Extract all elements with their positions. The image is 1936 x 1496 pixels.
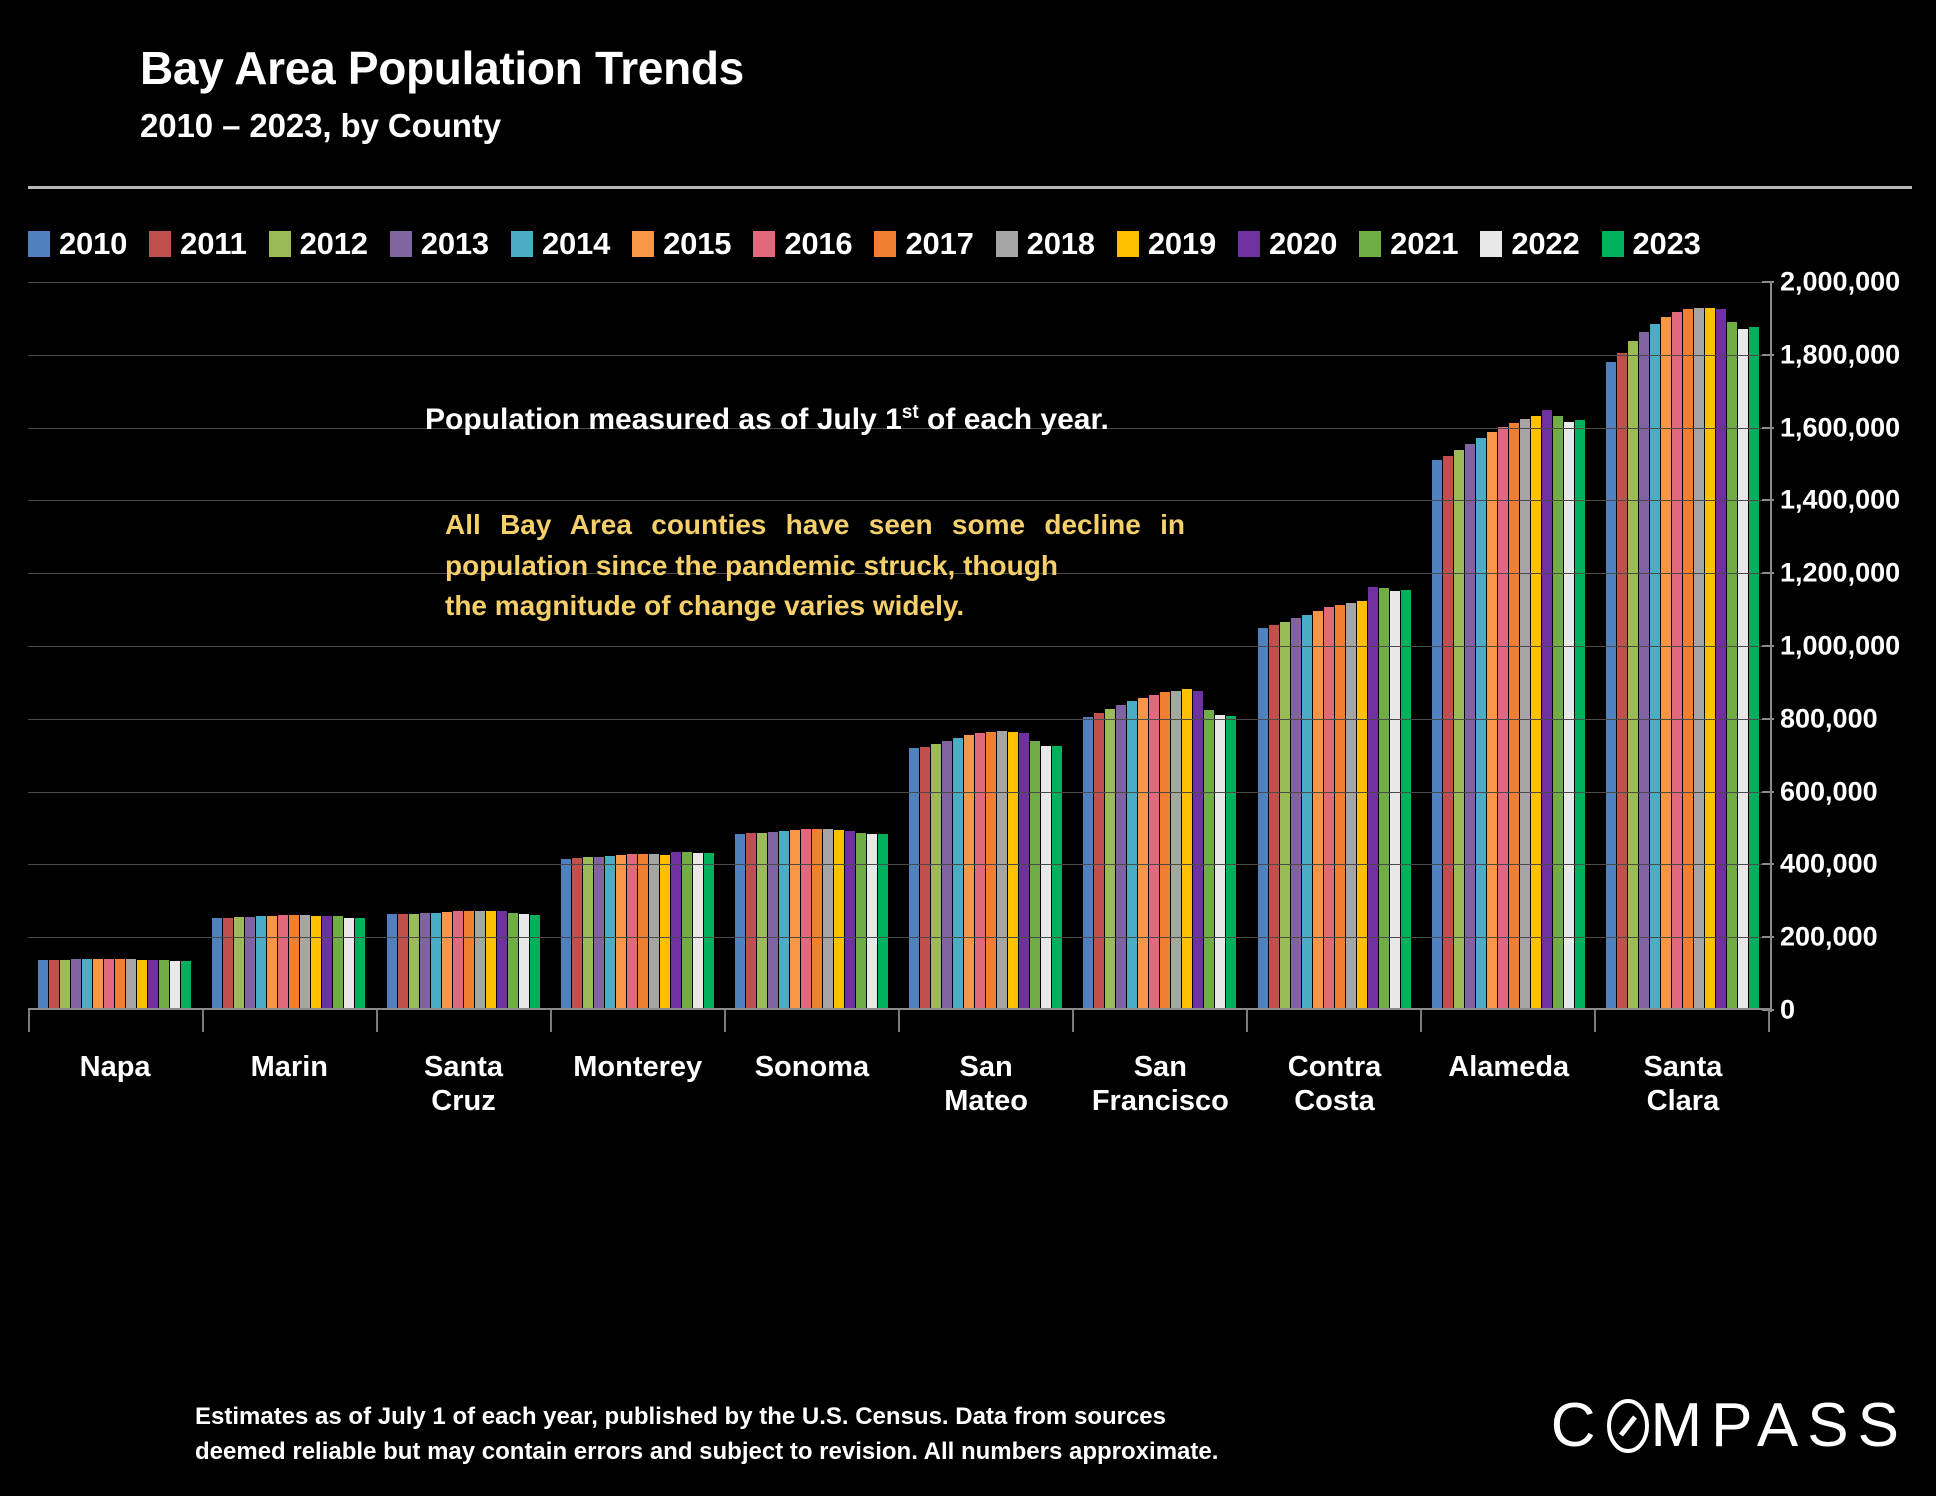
x-axis-label-monterey: Monterey [551, 1022, 725, 1132]
legend-swatch-2017 [874, 231, 896, 257]
x-axis-label-line: Monterey [551, 1050, 725, 1084]
bar-alameda-2015[interactable] [1487, 432, 1497, 1010]
title-block: Bay Area Population Trends 2010 – 2023, … [140, 42, 744, 145]
legend-item-2017[interactable]: 2017 [874, 226, 973, 262]
bar-sonoma-2010[interactable] [735, 834, 745, 1010]
bar-napa-2017[interactable] [115, 959, 125, 1010]
bar-marin-2021[interactable] [333, 916, 343, 1010]
gridline [28, 355, 1770, 356]
bar-marin-2011[interactable] [223, 918, 233, 1010]
x-axis-label-line: Cruz [376, 1084, 550, 1118]
bar-alameda-2013[interactable] [1465, 444, 1475, 1010]
bar-san-mateo-2018[interactable] [997, 731, 1007, 1010]
bar-monterey-2022[interactable] [693, 853, 703, 1010]
bar-contra-costa-2011[interactable] [1269, 625, 1279, 1010]
legend-swatch-2011 [149, 231, 171, 257]
legend-swatch-2019 [1117, 231, 1139, 257]
bar-marin-2017[interactable] [289, 915, 299, 1010]
bar-contra-costa-2023[interactable] [1401, 590, 1411, 1010]
bar-marin-2020[interactable] [322, 916, 332, 1010]
legend-label-2019: 2019 [1148, 226, 1216, 262]
legend-label-2011: 2011 [180, 226, 246, 262]
legend-label-2016: 2016 [784, 226, 852, 262]
bar-alameda-2014[interactable] [1476, 438, 1486, 1010]
bar-san-francisco-2021[interactable] [1204, 710, 1214, 1010]
bar-monterey-2016[interactable] [627, 854, 637, 1010]
x-axis-labels: NapaMarinSantaCruzMontereySonomaSanMateo… [28, 1022, 1770, 1132]
bar-sonoma-2019[interactable] [834, 830, 844, 1010]
bar-marin-2022[interactable] [344, 918, 354, 1010]
gridline [28, 500, 1770, 501]
y-tick-mark [1762, 427, 1774, 429]
x-axis-label-contra-costa: ContraCosta [1247, 1022, 1421, 1132]
bar-napa-2011[interactable] [49, 960, 59, 1010]
bar-monterey-2019[interactable] [660, 855, 670, 1010]
bar-santa-cruz-2023[interactable] [530, 915, 540, 1010]
bar-alameda-2011[interactable] [1443, 456, 1453, 1010]
bar-santa-clara-2011[interactable] [1617, 353, 1627, 1010]
bar-san-mateo-2020[interactable] [1019, 733, 1029, 1010]
header-divider [28, 186, 1912, 189]
bar-san-francisco-2023[interactable] [1226, 716, 1236, 1010]
legend-swatch-2016 [753, 231, 775, 257]
x-axis-label-line: Mateo [899, 1084, 1073, 1118]
bar-sonoma-2015[interactable] [790, 830, 800, 1010]
x-axis-label-napa: Napa [28, 1022, 202, 1132]
bar-sonoma-2021[interactable] [856, 833, 866, 1010]
y-tick-label: 1,000,000 [1780, 631, 1900, 662]
bar-san-mateo-2015[interactable] [964, 735, 974, 1010]
x-axis-label-line: Alameda [1422, 1050, 1596, 1084]
y-axis-line [1770, 282, 1772, 1012]
bar-santa-cruz-2011[interactable] [398, 914, 408, 1010]
legend-swatch-2018 [996, 231, 1018, 257]
bar-napa-2016[interactable] [104, 959, 114, 1010]
legend-item-2016[interactable]: 2016 [753, 226, 852, 262]
x-axis-label-line: Marin [202, 1050, 376, 1084]
footer-disclaimer: Estimates as of July 1 of each year, pub… [195, 1400, 1365, 1470]
bar-sonoma-2013[interactable] [768, 832, 778, 1010]
bar-san-francisco-2016[interactable] [1149, 695, 1159, 1010]
bar-sonoma-2016[interactable] [801, 829, 811, 1010]
bar-contra-costa-2010[interactable] [1258, 628, 1268, 1010]
bar-san-mateo-2023[interactable] [1052, 746, 1062, 1010]
bar-napa-2019[interactable] [137, 960, 147, 1010]
bar-santa-cruz-2021[interactable] [508, 913, 518, 1010]
bar-contra-costa-2016[interactable] [1324, 607, 1334, 1010]
legend-item-2013[interactable]: 2013 [390, 226, 489, 262]
bar-marin-2016[interactable] [278, 915, 288, 1010]
legend-item-2020[interactable]: 2020 [1238, 226, 1337, 262]
compass-logo-text: C MPASS [1551, 1390, 1908, 1461]
y-tick-mark [1762, 572, 1774, 574]
legend-label-2020: 2020 [1269, 226, 1337, 262]
bar-marin-2015[interactable] [267, 916, 277, 1010]
annotation-highlight: All Bay Area counties have seen some dec… [445, 505, 1185, 627]
bar-sonoma-2018[interactable] [823, 829, 833, 1010]
bar-napa-2014[interactable] [82, 959, 92, 1010]
bar-napa-2013[interactable] [71, 959, 81, 1010]
bar-san-mateo-2016[interactable] [975, 733, 985, 1010]
bar-santa-clara-2023[interactable] [1749, 327, 1759, 1010]
page-title: Bay Area Population Trends [140, 42, 744, 95]
bar-san-mateo-2021[interactable] [1030, 741, 1040, 1010]
bar-contra-costa-2017[interactable] [1335, 605, 1345, 1010]
gridline [28, 792, 1770, 793]
bar-san-mateo-2017[interactable] [986, 732, 996, 1010]
bar-monterey-2013[interactable] [594, 857, 604, 1010]
bar-napa-2020[interactable] [148, 960, 158, 1010]
legend-swatch-2015 [632, 231, 654, 257]
bar-san-mateo-2019[interactable] [1008, 732, 1018, 1010]
bar-monterey-2023[interactable] [704, 853, 714, 1011]
legend-item-2019[interactable]: 2019 [1117, 226, 1216, 262]
bar-alameda-2017[interactable] [1509, 423, 1519, 1010]
y-tick-label: 2,000,000 [1780, 267, 1900, 298]
gridline [28, 282, 1770, 283]
legend-label-2014: 2014 [542, 226, 610, 262]
y-tick-mark [1762, 936, 1774, 938]
bar-napa-2022[interactable] [170, 961, 180, 1010]
bar-contra-costa-2019[interactable] [1357, 601, 1367, 1010]
bar-napa-2018[interactable] [126, 959, 136, 1010]
y-tick-label: 800,000 [1780, 703, 1878, 734]
bar-napa-2012[interactable] [60, 960, 70, 1010]
bar-monterey-2012[interactable] [583, 857, 593, 1010]
y-tick-mark [1762, 863, 1774, 865]
legend-item-2011[interactable]: 2011 [149, 226, 246, 262]
annotation-highlight-last: the magnitude of change varies widely. [445, 586, 1185, 627]
gridline [28, 864, 1770, 865]
bar-santa-cruz-2018[interactable] [475, 911, 485, 1010]
legend-item-2010[interactable]: 2010 [28, 226, 127, 262]
x-axis-label-line: Contra [1247, 1050, 1421, 1084]
bar-sonoma-2022[interactable] [867, 834, 877, 1010]
bar-sonoma-2017[interactable] [812, 829, 822, 1010]
x-axis-label-line: Napa [28, 1050, 202, 1084]
legend-item-2014[interactable]: 2014 [511, 226, 610, 262]
legend-swatch-2012 [269, 231, 291, 257]
annotation-note-suffix: of each year. [919, 403, 1109, 436]
annotation-note-prefix: Population measured as of July 1 [425, 403, 902, 436]
bar-santa-cruz-2015[interactable] [442, 912, 452, 1010]
legend-label-2021: 2021 [1390, 226, 1458, 262]
x-axis-label-line: Costa [1247, 1084, 1421, 1118]
y-tick-mark [1762, 791, 1774, 793]
bar-alameda-2023[interactable] [1575, 420, 1585, 1010]
legend-swatch-2013 [390, 231, 412, 257]
bar-santa-cruz-2013[interactable] [420, 913, 430, 1010]
bar-san-mateo-2012[interactable] [931, 744, 941, 1010]
bar-contra-costa-2018[interactable] [1346, 603, 1356, 1010]
legend-item-2012[interactable]: 2012 [269, 226, 368, 262]
bar-sonoma-2020[interactable] [845, 831, 855, 1010]
bar-marin-2012[interactable] [234, 917, 244, 1010]
bar-alameda-2012[interactable] [1454, 450, 1464, 1010]
y-tick-label: 1,800,000 [1780, 339, 1900, 370]
x-axis-label-santa-clara: SantaClara [1596, 1022, 1770, 1132]
logo-letter-c: C [1551, 1390, 1605, 1461]
bar-san-mateo-2010[interactable] [909, 748, 919, 1010]
bar-contra-costa-2012[interactable] [1280, 622, 1290, 1010]
bar-napa-2010[interactable] [38, 960, 48, 1010]
y-tick-mark [1762, 718, 1774, 720]
bar-monterey-2014[interactable] [605, 856, 615, 1010]
legend-item-2022[interactable]: 2022 [1480, 226, 1579, 262]
legend-item-2018[interactable]: 2018 [996, 226, 1095, 262]
legend-label-2022: 2022 [1511, 226, 1579, 262]
bar-san-francisco-2017[interactable] [1160, 692, 1170, 1010]
bar-santa-clara-2015[interactable] [1661, 317, 1671, 1010]
legend-label-2010: 2010 [59, 226, 127, 262]
legend-label-2023: 2023 [1633, 226, 1701, 262]
x-axis-label-line: San [899, 1050, 1073, 1084]
legend-swatch-2022 [1480, 231, 1502, 257]
legend-swatch-2021 [1359, 231, 1381, 257]
bar-contra-costa-2021[interactable] [1379, 588, 1389, 1010]
y-tick-label: 200,000 [1780, 922, 1878, 953]
bar-marin-2013[interactable] [245, 917, 255, 1010]
x-axis-label-marin: Marin [202, 1022, 376, 1132]
y-tick-label: 1,600,000 [1780, 412, 1900, 443]
legend-label-2017: 2017 [905, 226, 973, 262]
bar-san-mateo-2011[interactable] [920, 747, 930, 1010]
bar-santa-clara-2012[interactable] [1628, 341, 1638, 1010]
bar-contra-costa-2020[interactable] [1368, 587, 1378, 1010]
y-tick-mark [1762, 499, 1774, 501]
bar-alameda-2019[interactable] [1531, 416, 1541, 1010]
bar-monterey-2010[interactable] [561, 859, 571, 1010]
legend-label-2018: 2018 [1027, 226, 1095, 262]
bar-santa-clara-2010[interactable] [1606, 362, 1616, 1011]
bar-san-mateo-2014[interactable] [953, 738, 963, 1010]
bar-santa-clara-2017[interactable] [1683, 309, 1693, 1010]
legend-label-2015: 2015 [663, 226, 731, 262]
legend-label-2013: 2013 [421, 226, 489, 262]
plot-area [28, 282, 1770, 1010]
legend-item-2023[interactable]: 2023 [1602, 226, 1701, 262]
bar-san-francisco-2011[interactable] [1094, 713, 1104, 1010]
y-tick-label: 400,000 [1780, 849, 1878, 880]
x-axis-label-line: Sonoma [725, 1050, 899, 1084]
bar-monterey-2020[interactable] [671, 852, 681, 1010]
x-axis-label-line: Santa [1596, 1050, 1770, 1084]
x-axis-label-sonoma: Sonoma [725, 1022, 899, 1132]
y-tick-label: 0 [1780, 995, 1795, 1026]
bar-sonoma-2014[interactable] [779, 831, 789, 1010]
bar-san-mateo-2022[interactable] [1041, 746, 1051, 1010]
bar-santa-cruz-2020[interactable] [497, 911, 507, 1010]
x-axis-label-line: Clara [1596, 1084, 1770, 1118]
bar-san-francisco-2015[interactable] [1138, 698, 1148, 1010]
bar-contra-costa-2014[interactable] [1302, 615, 1312, 1010]
gridline [28, 719, 1770, 720]
bar-alameda-2021[interactable] [1553, 416, 1563, 1010]
bar-san-francisco-2014[interactable] [1127, 701, 1137, 1010]
bar-santa-clara-2018[interactable] [1694, 308, 1704, 1010]
bar-santa-cruz-2019[interactable] [486, 911, 496, 1010]
bar-santa-cruz-2012[interactable] [409, 914, 419, 1010]
logo-letters-mpass: MPASS [1651, 1390, 1908, 1461]
bar-alameda-2018[interactable] [1520, 419, 1530, 1010]
annotation-note-sup: st [902, 402, 919, 423]
annotation-highlight-body: All Bay Area counties have seen some dec… [445, 509, 1185, 581]
bar-santa-cruz-2010[interactable] [387, 914, 397, 1010]
bar-santa-clara-2022[interactable] [1738, 329, 1748, 1010]
slide-root: Bay Area Population Trends 2010 – 2023, … [0, 0, 1936, 1496]
bar-monterey-2021[interactable] [682, 852, 692, 1010]
legend-item-2015[interactable]: 2015 [632, 226, 731, 262]
y-tick-mark [1762, 354, 1774, 356]
page-subtitle: 2010 – 2023, by County [140, 107, 744, 145]
bar-napa-2015[interactable] [93, 959, 103, 1011]
x-axis-label-santa-cruz: SantaCruz [376, 1022, 550, 1132]
bar-san-francisco-2022[interactable] [1215, 715, 1225, 1010]
legend-swatch-2014 [511, 231, 533, 257]
bar-monterey-2015[interactable] [616, 855, 626, 1010]
bar-santa-cruz-2014[interactable] [431, 913, 441, 1010]
bar-san-francisco-2013[interactable] [1116, 705, 1126, 1010]
legend-label-2012: 2012 [300, 226, 368, 262]
chart-legend: 2010201120122013201420152016201720182019… [28, 224, 1818, 264]
bar-marin-2018[interactable] [300, 915, 310, 1010]
y-tick-label: 1,200,000 [1780, 558, 1900, 589]
compass-needle-icon [1605, 1395, 1651, 1457]
legend-swatch-2020 [1238, 231, 1260, 257]
bar-san-mateo-2013[interactable] [942, 741, 952, 1010]
bar-contra-costa-2013[interactable] [1291, 618, 1301, 1010]
bar-santa-cruz-2022[interactable] [519, 914, 529, 1010]
y-tick-label: 1,400,000 [1780, 485, 1900, 516]
bar-santa-clara-2019[interactable] [1705, 308, 1715, 1010]
x-axis-label-line: San [1073, 1050, 1247, 1084]
bar-santa-clara-2016[interactable] [1672, 312, 1682, 1010]
bar-sonoma-2023[interactable] [878, 834, 888, 1010]
compass-logo: C MPASS [1551, 1390, 1908, 1461]
footer-line-1: Estimates as of July 1 of each year, pub… [195, 1403, 1166, 1430]
y-tick-label: 600,000 [1780, 776, 1878, 807]
bar-monterey-2018[interactable] [649, 854, 659, 1010]
bar-marin-2010[interactable] [212, 918, 222, 1010]
legend-item-2021[interactable]: 2021 [1359, 226, 1458, 262]
bar-napa-2023[interactable] [181, 961, 191, 1010]
bar-santa-clara-2021[interactable] [1727, 322, 1737, 1010]
footer-line-2: deemed reliable but may contain errors a… [195, 1435, 1365, 1470]
bar-monterey-2017[interactable] [638, 854, 648, 1010]
bar-contra-costa-2015[interactable] [1313, 611, 1323, 1010]
x-axis-label-line: Santa [376, 1050, 550, 1084]
bar-marin-2014[interactable] [256, 916, 266, 1010]
y-tick-mark [1762, 645, 1774, 647]
annotation-note: Population measured as of July 1st of ea… [425, 402, 1109, 437]
x-axis-label-san-mateo: SanMateo [899, 1022, 1073, 1132]
bar-santa-cruz-2016[interactable] [453, 911, 463, 1010]
x-axis-label-san-francisco: SanFrancisco [1073, 1022, 1247, 1132]
bar-san-francisco-2012[interactable] [1105, 709, 1115, 1010]
bar-monterey-2011[interactable] [572, 858, 582, 1010]
x-axis-label-line: Francisco [1073, 1084, 1247, 1118]
bar-santa-cruz-2017[interactable] [464, 911, 474, 1010]
bar-marin-2023[interactable] [355, 918, 365, 1010]
bar-sonoma-2012[interactable] [757, 833, 767, 1010]
bar-san-francisco-2020[interactable] [1193, 691, 1203, 1010]
bar-santa-clara-2020[interactable] [1716, 309, 1726, 1010]
gridline [28, 937, 1770, 938]
bar-san-francisco-2018[interactable] [1171, 691, 1181, 1010]
legend-swatch-2010 [28, 231, 50, 257]
bar-napa-2021[interactable] [159, 960, 169, 1010]
bar-contra-costa-2022[interactable] [1390, 591, 1400, 1010]
y-tick-mark [1762, 281, 1774, 283]
bar-marin-2019[interactable] [311, 916, 321, 1010]
bar-alameda-2010[interactable] [1432, 460, 1442, 1010]
bar-sonoma-2011[interactable] [746, 833, 756, 1010]
bar-santa-clara-2013[interactable] [1639, 332, 1649, 1010]
bar-alameda-2022[interactable] [1564, 422, 1574, 1010]
bar-san-francisco-2019[interactable] [1182, 689, 1192, 1010]
legend-swatch-2023 [1602, 231, 1624, 257]
gridline [28, 646, 1770, 647]
x-axis-label-alameda: Alameda [1422, 1022, 1596, 1132]
